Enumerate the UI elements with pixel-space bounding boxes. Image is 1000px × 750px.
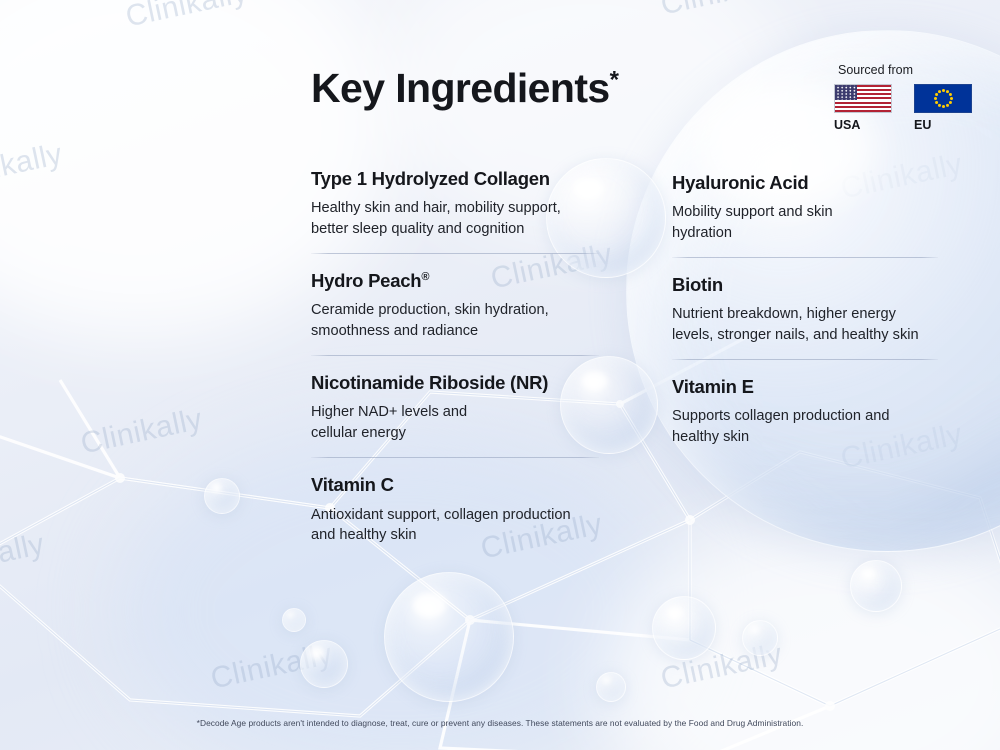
ingredient-column-right: Hyaluronic Acid Mobility support and ski… xyxy=(672,172,938,447)
title-asterisk: * xyxy=(610,66,619,93)
footer-disclaimer: *Decode Age products aren't intended to … xyxy=(0,718,1000,728)
ingredient-description: Antioxidant support, collagen production… xyxy=(311,505,599,546)
flag-caption-eu: EU xyxy=(914,118,972,132)
ingredient-name: Type 1 Hydrolyzed Collagen xyxy=(311,168,599,189)
ingredient-name-text: Biotin xyxy=(672,274,723,295)
page-title: Key Ingredients* xyxy=(311,68,618,109)
ingredient-description: Ceramide production, skin hydration, smo… xyxy=(311,300,599,341)
ingredient-name-text: Vitamin E xyxy=(672,376,754,397)
divider xyxy=(311,253,599,254)
sourced-from-block: Sourced from xyxy=(834,63,972,132)
divider xyxy=(672,359,938,360)
key-ingredients-page: Clinikally Clinikally Clinikally Clinika… xyxy=(0,0,1000,750)
ingredient-name-text: Type 1 Hydrolyzed Collagen xyxy=(311,168,550,189)
ingredient-item: Vitamin E Supports collagen production a… xyxy=(672,376,938,447)
ingredient-item: Hydro Peach® Ceramide production, skin h… xyxy=(311,270,599,341)
ingredient-item: Nicotinamide Riboside (NR) Higher NAD+ l… xyxy=(311,372,599,443)
ingredient-trademark: ® xyxy=(421,271,429,283)
flags-row: USA xyxy=(834,84,972,132)
ingredient-description: Nutrient breakdown, higher energy levels… xyxy=(672,304,938,345)
ingredient-item: Vitamin C Antioxidant support, collagen … xyxy=(311,474,599,545)
flag-item-usa: USA xyxy=(834,84,892,132)
flag-usa-icon xyxy=(834,84,892,113)
ingredient-description: Higher NAD+ levels and cellular energy xyxy=(311,402,599,443)
flag-item-eu: EU xyxy=(914,84,972,132)
ingredient-name-text: Nicotinamide Riboside (NR) xyxy=(311,372,548,393)
ingredient-description: Mobility support and skin hydration xyxy=(672,202,938,243)
divider xyxy=(311,355,599,356)
ingredient-description: Healthy skin and hair, mobility support,… xyxy=(311,198,599,239)
flag-caption-usa: USA xyxy=(834,118,892,132)
ingredient-name: Nicotinamide Riboside (NR) xyxy=(311,372,599,393)
ingredient-name: Hyaluronic Acid xyxy=(672,172,938,193)
ingredient-name: Hydro Peach® xyxy=(311,270,599,291)
ingredient-name: Biotin xyxy=(672,274,938,295)
page-title-text: Key Ingredients xyxy=(311,65,610,111)
divider xyxy=(672,257,938,258)
ingredient-item: Hyaluronic Acid Mobility support and ski… xyxy=(672,172,938,243)
ingredient-name: Vitamin C xyxy=(311,474,599,495)
ingredient-name-text: Hydro Peach xyxy=(311,270,421,291)
ingredient-name-text: Vitamin C xyxy=(311,474,394,495)
ingredient-description: Supports collagen production and healthy… xyxy=(672,406,938,447)
ingredient-name: Vitamin E xyxy=(672,376,938,397)
ingredient-item: Type 1 Hydrolyzed Collagen Healthy skin … xyxy=(311,168,599,239)
ingredient-name-text: Hyaluronic Acid xyxy=(672,172,808,193)
flag-eu-icon xyxy=(914,84,972,113)
sourced-from-label: Sourced from xyxy=(838,63,972,77)
ingredient-column-left: Type 1 Hydrolyzed Collagen Healthy skin … xyxy=(311,168,599,545)
ingredient-item: Biotin Nutrient breakdown, higher energy… xyxy=(672,274,938,345)
divider xyxy=(311,457,599,458)
